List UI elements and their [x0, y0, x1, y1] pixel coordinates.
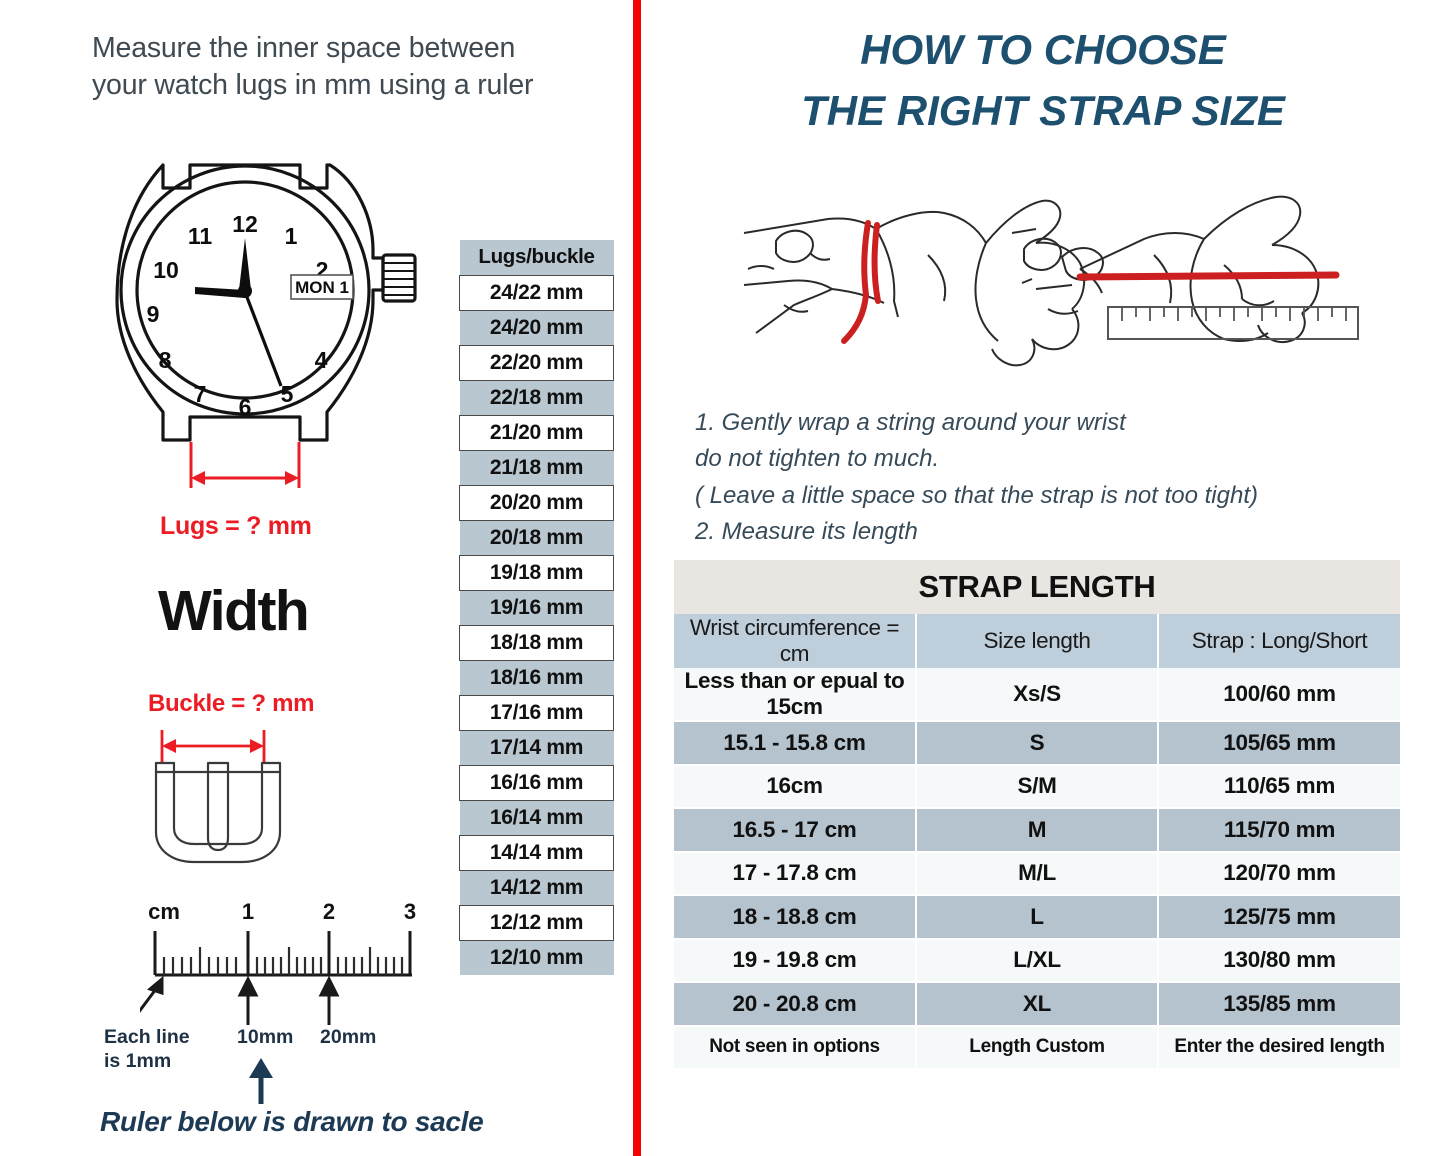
right-title: HOW TO CHOOSE THE RIGHT STRAP SIZE — [641, 20, 1445, 142]
lugs-option[interactable]: 12/12 mm — [460, 905, 614, 940]
panel-divider — [633, 0, 641, 1156]
buckle-measure-arrow — [162, 730, 264, 762]
ruler-diagram: cm 1 2 3 — [140, 895, 450, 1025]
date-window: MON 1 — [291, 275, 353, 299]
svg-text:2: 2 — [323, 899, 335, 924]
lugs-option[interactable]: 17/16 mm — [460, 695, 614, 730]
ruler-note-each-line: Each line is 1mm — [104, 1025, 190, 1074]
watch-diagram: 12 1 2 4 5 6 7 8 9 10 11 MON — [95, 140, 445, 500]
string-around-wrist-icon — [744, 201, 1084, 366]
measure-string-with-ruler-icon — [1012, 197, 1318, 342]
strap-cell: L — [916, 895, 1158, 939]
lugs-option[interactable]: 20/20 mm — [460, 485, 614, 520]
table-row[interactable]: 16/14 mm — [460, 800, 614, 835]
svg-text:1: 1 — [285, 223, 298, 249]
lugs-option[interactable]: 24/22 mm — [460, 275, 614, 310]
svg-text:7: 7 — [194, 381, 207, 407]
table-row[interactable]: 18 - 18.8 cmL125/75 mm — [674, 895, 1400, 939]
strap-cell: 15.1 - 15.8 cm — [674, 721, 916, 765]
ruler-note-20mm: 20mm — [320, 1025, 376, 1049]
wrist-measurement-illustrations — [736, 165, 1376, 375]
table-row[interactable]: 21/18 mm — [460, 450, 614, 485]
svg-text:MON 1: MON 1 — [295, 278, 349, 297]
table-row[interactable]: 15.1 - 15.8 cmS105/65 mm — [674, 721, 1400, 765]
table-row[interactable]: 20/18 mm — [460, 520, 614, 555]
strap-cell: 105/65 mm — [1158, 721, 1400, 765]
table-row[interactable]: 22/18 mm — [460, 380, 614, 415]
table-row[interactable]: 19/16 mm — [460, 590, 614, 625]
ruler-note-line2: is 1mm — [104, 1049, 190, 1073]
strap-cell: L/XL — [916, 939, 1158, 983]
instruction-line-2: do not tighten to much. — [695, 441, 1425, 477]
strap-cell: 110/65 mm — [1158, 765, 1400, 809]
svg-text:6: 6 — [239, 394, 252, 420]
svg-text:3: 3 — [404, 899, 416, 924]
lugs-option[interactable]: 20/18 mm — [460, 520, 614, 555]
svg-text:5: 5 — [281, 381, 294, 407]
lugs-option[interactable]: 22/18 mm — [460, 380, 614, 415]
instruction-line-1: 1. Gently wrap a string around your wris… — [695, 405, 1425, 441]
right-title-line1: HOW TO CHOOSE — [641, 20, 1445, 81]
lugs-option[interactable]: 14/12 mm — [460, 870, 614, 905]
strap-cell: S — [916, 721, 1158, 765]
table-row: Lugs/buckle — [460, 240, 614, 275]
buckle-measure-label: Buckle = ? mm — [148, 690, 314, 718]
strap-cell: 125/75 mm — [1158, 895, 1400, 939]
strap-cell: M/L — [916, 852, 1158, 896]
strap-cell: Length Custom — [916, 1026, 1158, 1070]
svg-text:8: 8 — [159, 347, 172, 373]
table-row[interactable]: 21/20 mm — [460, 415, 614, 450]
lugs-table-header: Lugs/buckle — [460, 240, 614, 275]
strap-cell: 18 - 18.8 cm — [674, 895, 916, 939]
table-row[interactable]: 16.5 - 17 cmM115/70 mm — [674, 808, 1400, 852]
up-arrow-icon — [246, 1058, 276, 1106]
scale-note: Ruler below is drawn to sacle — [100, 1106, 483, 1138]
left-heading-line2: your watch lugs in mm using a ruler — [92, 67, 622, 104]
table-row[interactable]: Not seen in optionsLength CustomEnter th… — [674, 1026, 1400, 1070]
strap-cell: Xs/S — [916, 668, 1158, 721]
strap-cell: 115/70 mm — [1158, 808, 1400, 852]
size-guide-infographic: Measure the inner space between your wat… — [0, 0, 1445, 1156]
strap-cell: 16cm — [674, 765, 916, 809]
ruler-note-10mm: 10mm — [237, 1025, 293, 1049]
table-row[interactable]: 20/20 mm — [460, 485, 614, 520]
strap-cell: 130/80 mm — [1158, 939, 1400, 983]
lugs-measure-label: Lugs = ? mm — [160, 512, 312, 541]
table-row[interactable]: 24/20 mm — [460, 310, 614, 345]
strap-cell: 120/70 mm — [1158, 852, 1400, 896]
svg-text:4: 4 — [315, 347, 328, 373]
strap-cell: 16.5 - 17 cm — [674, 808, 916, 852]
strap-cell: Less than or epual to 15cm — [674, 668, 916, 721]
table-row[interactable]: 22/20 mm — [460, 345, 614, 380]
table-row[interactable]: Less than or epual to 15cmXs/S100/60 mm — [674, 668, 1400, 721]
table-row[interactable]: 14/12 mm — [460, 870, 614, 905]
strap-cell: 20 - 20.8 cm — [674, 982, 916, 1026]
lugs-option[interactable]: 22/20 mm — [460, 345, 614, 380]
left-heading: Measure the inner space between your wat… — [92, 30, 622, 104]
table-row[interactable]: 17/16 mm — [460, 695, 614, 730]
strap-cell: M — [916, 808, 1158, 852]
table-row[interactable]: 17/14 mm — [460, 730, 614, 765]
svg-text:10: 10 — [153, 257, 179, 283]
strap-cell: S/M — [916, 765, 1158, 809]
lugs-option[interactable]: 19/18 mm — [460, 555, 614, 590]
red-string — [844, 223, 878, 341]
left-heading-line1: Measure the inner space between — [92, 30, 622, 67]
svg-text:9: 9 — [147, 301, 160, 327]
table-row[interactable]: 16/16 mm — [460, 765, 614, 800]
lugs-option[interactable]: 18/16 mm — [460, 660, 614, 695]
strap-cell: 19 - 19.8 cm — [674, 939, 916, 983]
svg-text:cm: cm — [148, 899, 180, 924]
strap-cell: Not seen in options — [674, 1026, 916, 1070]
table-row[interactable]: 18/18 mm — [460, 625, 614, 660]
red-string-measured — [1080, 275, 1336, 277]
strap-column-header: Size length — [916, 614, 1158, 668]
right-title-line2: THE RIGHT STRAP SIZE — [641, 81, 1445, 142]
strap-cell: Enter the desired length — [1158, 1026, 1400, 1070]
svg-text:1: 1 — [242, 899, 254, 924]
svg-text:11: 11 — [188, 223, 213, 249]
strap-column-header: Strap : Long/Short — [1158, 614, 1400, 668]
table-row[interactable]: 24/22 mm — [460, 275, 614, 310]
table-row[interactable]: 19/18 mm — [460, 555, 614, 590]
lugs-buckle-table: Lugs/buckle24/22 mm24/20 mm22/20 mm22/18… — [459, 240, 614, 975]
lugs-option[interactable]: 16/14 mm — [460, 800, 614, 835]
lugs-option[interactable]: 12/10 mm — [460, 940, 614, 975]
table-row[interactable]: 18/16 mm — [460, 660, 614, 695]
strap-length-table: STRAP LENGTHWrist circumference = cmSize… — [674, 560, 1400, 1070]
table-row[interactable]: 12/12 mm — [460, 905, 614, 940]
instruction-line-3: ( Leave a little space so that the strap… — [695, 478, 1425, 514]
width-heading: Width — [158, 578, 308, 644]
lugs-option[interactable]: 14/14 mm — [460, 835, 614, 870]
table-row[interactable]: 17 - 17.8 cmM/L120/70 mm — [674, 852, 1400, 896]
strap-cell: 17 - 17.8 cm — [674, 852, 916, 896]
lugs-option[interactable]: 18/18 mm — [460, 625, 614, 660]
buckle-diagram — [150, 720, 350, 870]
left-panel: Measure the inner space between your wat… — [0, 0, 633, 1156]
strap-cell: 135/85 mm — [1158, 982, 1400, 1026]
strap-table-header-row: Wrist circumference = cmSize lengthStrap… — [674, 614, 1400, 668]
ruler-note-line1: Each line — [104, 1025, 190, 1049]
table-row[interactable]: 20 - 20.8 cmXL135/85 mm — [674, 982, 1400, 1026]
table-row[interactable]: 12/10 mm — [460, 940, 614, 975]
strap-table-title-row: STRAP LENGTH — [674, 560, 1400, 614]
instructions-block: 1. Gently wrap a string around your wris… — [695, 405, 1425, 551]
lugs-option[interactable]: 21/18 mm — [460, 450, 614, 485]
lugs-option[interactable]: 21/20 mm — [460, 415, 614, 450]
lugs-option[interactable]: 17/14 mm — [460, 730, 614, 765]
strap-table-title: STRAP LENGTH — [674, 560, 1400, 614]
strap-cell: XL — [916, 982, 1158, 1026]
ruler-icon — [1108, 307, 1358, 339]
strap-cell: 100/60 mm — [1158, 668, 1400, 721]
lugs-option[interactable]: 24/20 mm — [460, 310, 614, 345]
strap-column-header: Wrist circumference = cm — [674, 614, 916, 668]
instruction-line-4: 2. Measure its length — [695, 514, 1425, 550]
lugs-measure-arrow — [191, 442, 299, 488]
table-row[interactable]: 19 - 19.8 cmL/XL130/80 mm — [674, 939, 1400, 983]
lugs-option[interactable]: 19/16 mm — [460, 590, 614, 625]
table-row[interactable]: 14/14 mm — [460, 835, 614, 870]
svg-text:12: 12 — [232, 211, 258, 237]
table-row[interactable]: 16cmS/M110/65 mm — [674, 765, 1400, 809]
right-panel: HOW TO CHOOSE THE RIGHT STRAP SIZE — [641, 0, 1445, 1156]
lugs-option[interactable]: 16/16 mm — [460, 765, 614, 800]
